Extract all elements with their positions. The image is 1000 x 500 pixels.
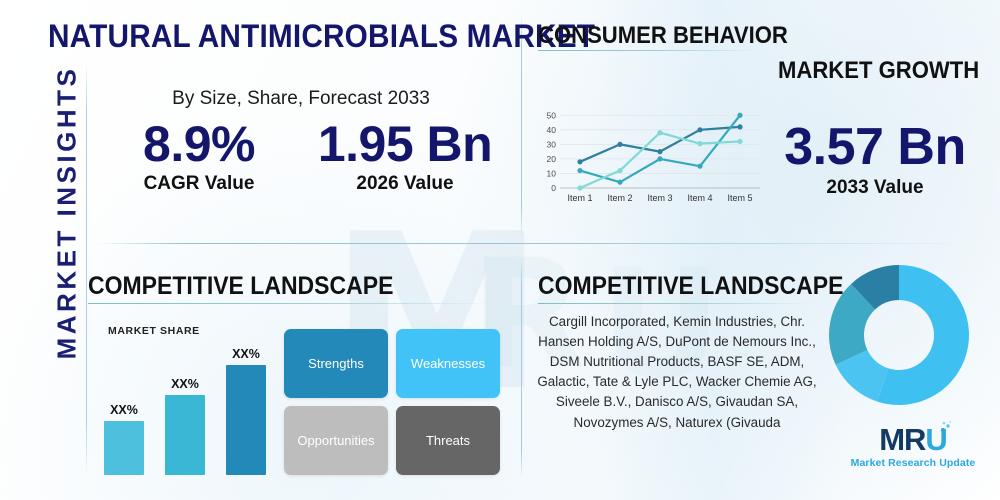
kpi-market-growth: 3.57 Bn 2033 Value — [760, 120, 990, 199]
swot-label: Opportunities — [297, 433, 374, 448]
infographic-canvas: M R U MARKET INSIGHTS NATURAL ANTIMICROB… — [0, 0, 1000, 500]
section-heading-competitive-landscape-right: COMPETITIVE LANDSCAPE — [538, 272, 843, 301]
bar — [104, 421, 144, 475]
bar-value-label: XX% — [110, 403, 138, 417]
logo-letter-r: R — [904, 422, 925, 457]
swot-label: Weaknesses — [411, 356, 485, 371]
swot-label: Threats — [426, 433, 470, 448]
bar-value-label: XX% — [232, 347, 260, 361]
kpi-cagr: 8.9% CAGR Value — [96, 118, 302, 195]
section-heading-competitive-landscape-left: COMPETITIVE LANDSCAPE — [88, 272, 393, 301]
line-chart-x-ticks: Item 1Item 2Item 3Item 4Item 5 — [567, 193, 752, 203]
bar — [165, 395, 205, 475]
vertical-rail-divider — [86, 62, 87, 474]
swot-label: Strengths — [308, 356, 364, 371]
logo-bubbles-icon — [938, 419, 954, 435]
svg-text:Item 5: Item 5 — [727, 193, 752, 203]
line-chart-y-ticks: 01020304050 — [547, 110, 557, 193]
swot-box-weaknesses[interactable]: Weaknesses — [396, 329, 500, 398]
swot-box-opportunities[interactable]: Opportunities — [284, 406, 388, 475]
kpi-2026: 1.95 Bn 2026 Value — [302, 118, 508, 195]
swot-grid: StrengthsWeaknessesOpportunitiesThreats — [284, 329, 500, 475]
line-chart-series — [577, 113, 742, 191]
svg-text:Item 1: Item 1 — [567, 193, 592, 203]
svg-text:10: 10 — [547, 168, 557, 178]
svg-text:0: 0 — [551, 183, 556, 193]
section-rule-competitive-landscape-left — [88, 303, 493, 304]
company-list: Cargill Incorporated, Kemin Industries, … — [532, 312, 822, 433]
page-subtitle: By Size, Share, Forecast 2033 — [96, 88, 506, 110]
bar-item: XX% — [165, 377, 205, 475]
market-share-donut-chart — [826, 262, 972, 408]
logo: MRU Market Research Update — [848, 424, 978, 469]
section-rule-competitive-landscape-right — [538, 303, 810, 304]
kpi-cagr-label: CAGR Value — [96, 173, 302, 195]
bar-item: XX% — [226, 347, 266, 475]
svg-text:20: 20 — [547, 154, 557, 164]
page-title: NATURAL ANTIMICROBIALS MARKET — [48, 18, 595, 55]
logo-letter-m: M — [879, 422, 904, 457]
market-share-title: MARKET SHARE — [108, 325, 200, 337]
kpi-2033-value: 3.57 Bn — [760, 120, 990, 175]
horizontal-divider — [96, 243, 976, 244]
svg-text:Item 4: Item 4 — [687, 193, 712, 203]
bar-item: XX% — [104, 403, 144, 475]
kpi-row: 8.9% CAGR Value 1.95 Bn 2026 Value — [96, 118, 508, 195]
svg-text:30: 30 — [547, 139, 557, 149]
bar — [226, 365, 266, 475]
kpi-2026-value: 1.95 Bn — [302, 118, 508, 171]
section-rule-consumer-behavior — [538, 50, 760, 51]
logo-mark: MRU — [879, 424, 947, 455]
market-share-bar-chart: XX%XX%XX% — [104, 340, 266, 475]
logo-subtitle: Market Research Update — [848, 457, 978, 469]
svg-text:50: 50 — [547, 110, 557, 120]
kpi-2026-label: 2026 Value — [302, 173, 508, 195]
swot-box-strengths[interactable]: Strengths — [284, 329, 388, 398]
kpi-2033-label: 2033 Value — [760, 177, 990, 199]
swot-box-threats[interactable]: Threats — [396, 406, 500, 475]
vertical-divider-bottom — [521, 258, 522, 478]
svg-text:40: 40 — [547, 125, 557, 135]
bar-value-label: XX% — [171, 377, 199, 391]
section-heading-consumer-behavior: CONSUMER BEHAVIOR — [538, 22, 788, 50]
svg-text:Item 3: Item 3 — [647, 193, 672, 203]
side-label-market-insights: MARKET INSIGHTS — [52, 3, 83, 423]
donut-segments — [829, 265, 969, 405]
svg-text:Item 2: Item 2 — [607, 193, 632, 203]
kpi-cagr-value: 8.9% — [96, 118, 302, 171]
section-heading-market-growth: MARKET GROWTH — [778, 57, 979, 85]
consumer-behavior-line-chart: 01020304050 Item 1Item 2Item 3Item 4Item… — [534, 100, 764, 210]
